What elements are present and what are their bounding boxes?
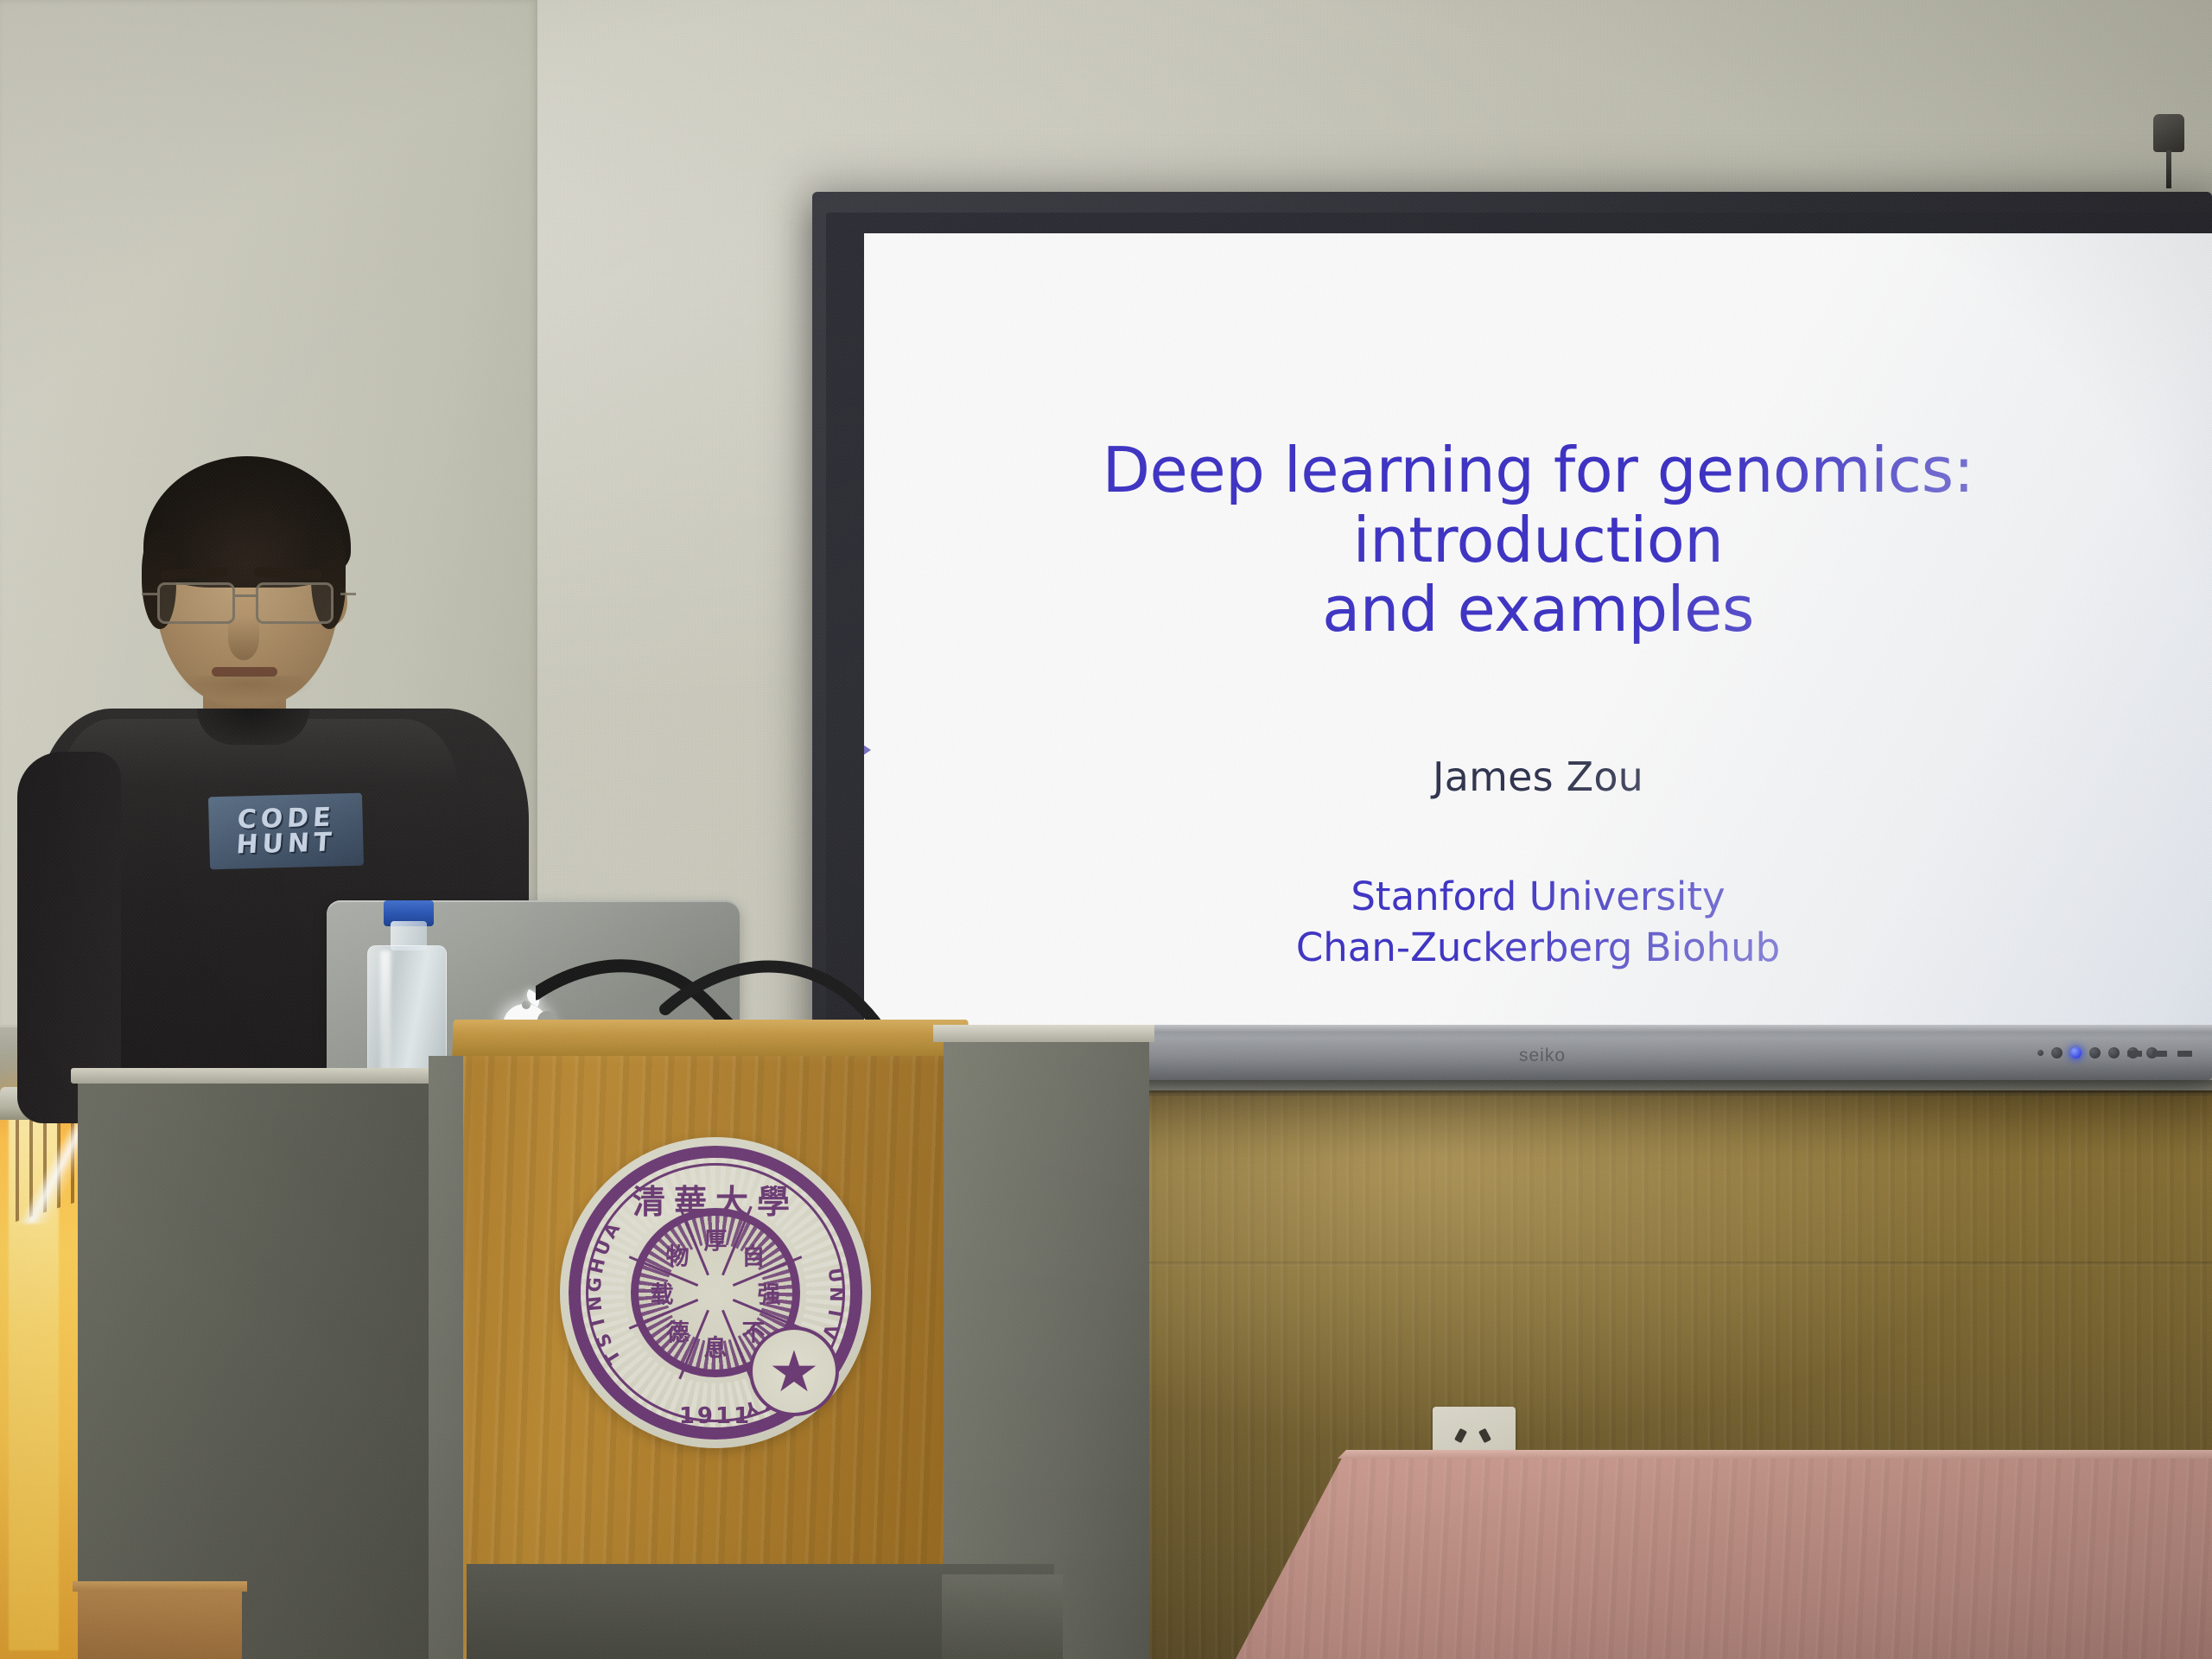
shirt-logo-line-2: HUNT — [236, 829, 337, 857]
display-vent — [2177, 1051, 2192, 1057]
glasses-temple-left — [142, 593, 157, 595]
star-icon: ★ — [768, 1343, 819, 1400]
socket-slot — [1454, 1428, 1467, 1443]
seal-inner-wheel: 厚自强不息德载物 ★ — [631, 1208, 800, 1377]
glasses-temple-right — [340, 593, 356, 595]
speaker-nose — [228, 617, 259, 660]
slide-affiliation: Stanford University Chan-Zuckerberg Bioh… — [1296, 871, 1780, 974]
play-triangle-icon[interactable] — [864, 740, 871, 760]
slide-title-line-1: Deep learning for genomics: introduction — [963, 435, 2113, 575]
display-vent — [2152, 1051, 2167, 1057]
lectern-left-panel — [78, 1078, 429, 1659]
slide-affiliation-line-2: Chan-Zuckerberg Biohub — [1296, 922, 1780, 973]
seal-english-letter: S — [592, 1330, 616, 1351]
lectern-right-panel-top — [933, 1025, 1154, 1042]
seal-english-letter: I — [587, 1316, 608, 1328]
seal-motto-character: 厚 — [704, 1223, 728, 1256]
display-button-menu[interactable] — [2051, 1047, 2063, 1058]
slide-affiliation-line-1: Stanford University — [1296, 871, 1780, 922]
seal-english-letter: N — [584, 1294, 607, 1313]
glasses-bridge — [235, 594, 257, 597]
socket-slot — [1478, 1428, 1491, 1443]
seal-hub: ★ — [749, 1326, 839, 1416]
seal-motto-character: 强 — [758, 1276, 781, 1310]
lectern-foot — [942, 1574, 1063, 1659]
seal-english-letter: U — [823, 1267, 846, 1285]
seal-motto-character: 德 — [666, 1313, 690, 1347]
seal-motto-character: 载 — [651, 1276, 674, 1310]
seal-english-letter: H — [586, 1255, 610, 1276]
slide-title-line-2: and examples — [963, 575, 2113, 645]
foreground-desk — [1236, 1450, 2212, 1659]
display-button-volume-down[interactable] — [2108, 1047, 2120, 1058]
left-foreground-desk — [78, 1588, 242, 1659]
camera-icon — [2150, 114, 2188, 188]
display-brand-label: seiko — [1519, 1046, 1566, 1066]
left-foreground-desk-top — [73, 1581, 247, 1592]
seal-motto-character: 息 — [704, 1330, 728, 1363]
camera-head — [2153, 114, 2184, 152]
seal-motto-character: 自 — [741, 1238, 765, 1272]
display-vents — [2127, 1051, 2192, 1057]
shirt-logo-patch: CODE HUNT — [208, 793, 364, 870]
lectern-wood-top — [452, 1020, 968, 1056]
seal-english-letter: T — [601, 1345, 625, 1368]
tsinghua-university-seal: 清華大學 TSINGHUAUNIVERSITY 1911 厚自强不息德载物 ★ — [560, 1137, 871, 1448]
slide-author: James Zou — [1433, 753, 1643, 800]
display-button-ir[interactable] — [2037, 1050, 2044, 1056]
bottle-highlight — [380, 950, 391, 1080]
glasses-lens-right — [256, 582, 334, 624]
lecture-hall-photo: Deep learning for genomics: introduction… — [0, 0, 2212, 1659]
glasses-lens-left — [157, 582, 235, 624]
foreground-desk-edge — [1236, 1450, 2212, 1459]
display-vent — [2127, 1051, 2142, 1057]
lectern-left-panel-top — [71, 1068, 435, 1084]
seal-english-letter: G — [584, 1275, 606, 1293]
seal-motto-character: 物 — [666, 1238, 690, 1272]
wainscot-sunlight — [1020, 1090, 2212, 1462]
seal-english-letter: I — [823, 1308, 845, 1319]
seal-founding-year: 1911 — [560, 1403, 871, 1429]
seal-english-letter: N — [826, 1287, 847, 1303]
display-power-led[interactable] — [2070, 1047, 2082, 1058]
display-button-source[interactable] — [2089, 1047, 2101, 1058]
slide-title: Deep learning for genomics: introduction… — [963, 435, 2113, 645]
